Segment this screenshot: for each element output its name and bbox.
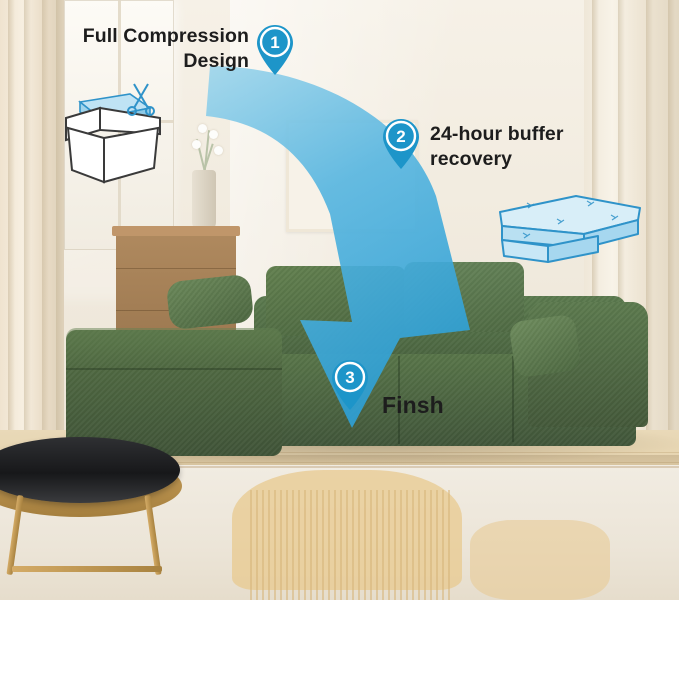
step-2-number: 2: [381, 121, 421, 152]
step-1-label-line-1: Full Compression: [44, 24, 249, 49]
cabinet-seam: [116, 268, 236, 269]
step-1-label: Full Compression Design: [44, 24, 249, 74]
step-2-pin: 2: [381, 118, 421, 170]
step-1-number: 1: [255, 27, 295, 58]
cabinet-top-surface: [112, 226, 240, 236]
step-3-label-line-1: Finsh: [382, 393, 542, 418]
step-2-label-line-2: recovery: [430, 147, 660, 172]
plant-blossom: [209, 130, 218, 139]
fabric-texture: [166, 274, 255, 331]
curtain-fold: [24, 0, 31, 470]
plant-blossom: [198, 124, 207, 133]
curtain-fold: [8, 0, 15, 470]
rug-stripe-pattern: [250, 490, 450, 600]
sofa-back-cushion-left: [266, 266, 406, 336]
rug-pattern-patch: [470, 520, 610, 600]
plant-blossom: [214, 146, 223, 155]
fabric-texture: [266, 266, 406, 336]
fabric-texture: [508, 314, 581, 379]
flower-vase: [192, 170, 216, 232]
step-1-label-line-2: Design: [44, 49, 249, 74]
plant-blossom: [192, 140, 201, 149]
chaise-seam: [66, 368, 282, 370]
step-2-label-line-1: 24-hour buffer: [430, 122, 660, 147]
step-1-pin: 1: [255, 24, 295, 76]
tips-section: Tips： The sofa adopts a frameless design…: [0, 600, 679, 676]
step-3-label: Finsh: [382, 393, 542, 418]
step-3-number: 3: [330, 362, 370, 393]
sofa-arm-pillow: [508, 314, 581, 379]
folded-sofa-illustration: [488, 186, 648, 276]
compressed-box-illustration: [38, 78, 178, 188]
step-2-label: 24-hour buffer recovery: [430, 122, 660, 172]
infographic-page: 1 Full Compression Design 2 24-hour buff…: [0, 0, 679, 676]
step-3-pin: 3: [330, 359, 370, 411]
sofa-chaise-top-highlight: [66, 328, 282, 368]
sofa-throw-pillow-left: [166, 274, 255, 331]
coffee-table-stretcher: [12, 566, 162, 572]
curtain-fold: [668, 0, 675, 470]
room-photo: 1 Full Compression Design 2 24-hour buff…: [0, 0, 679, 600]
